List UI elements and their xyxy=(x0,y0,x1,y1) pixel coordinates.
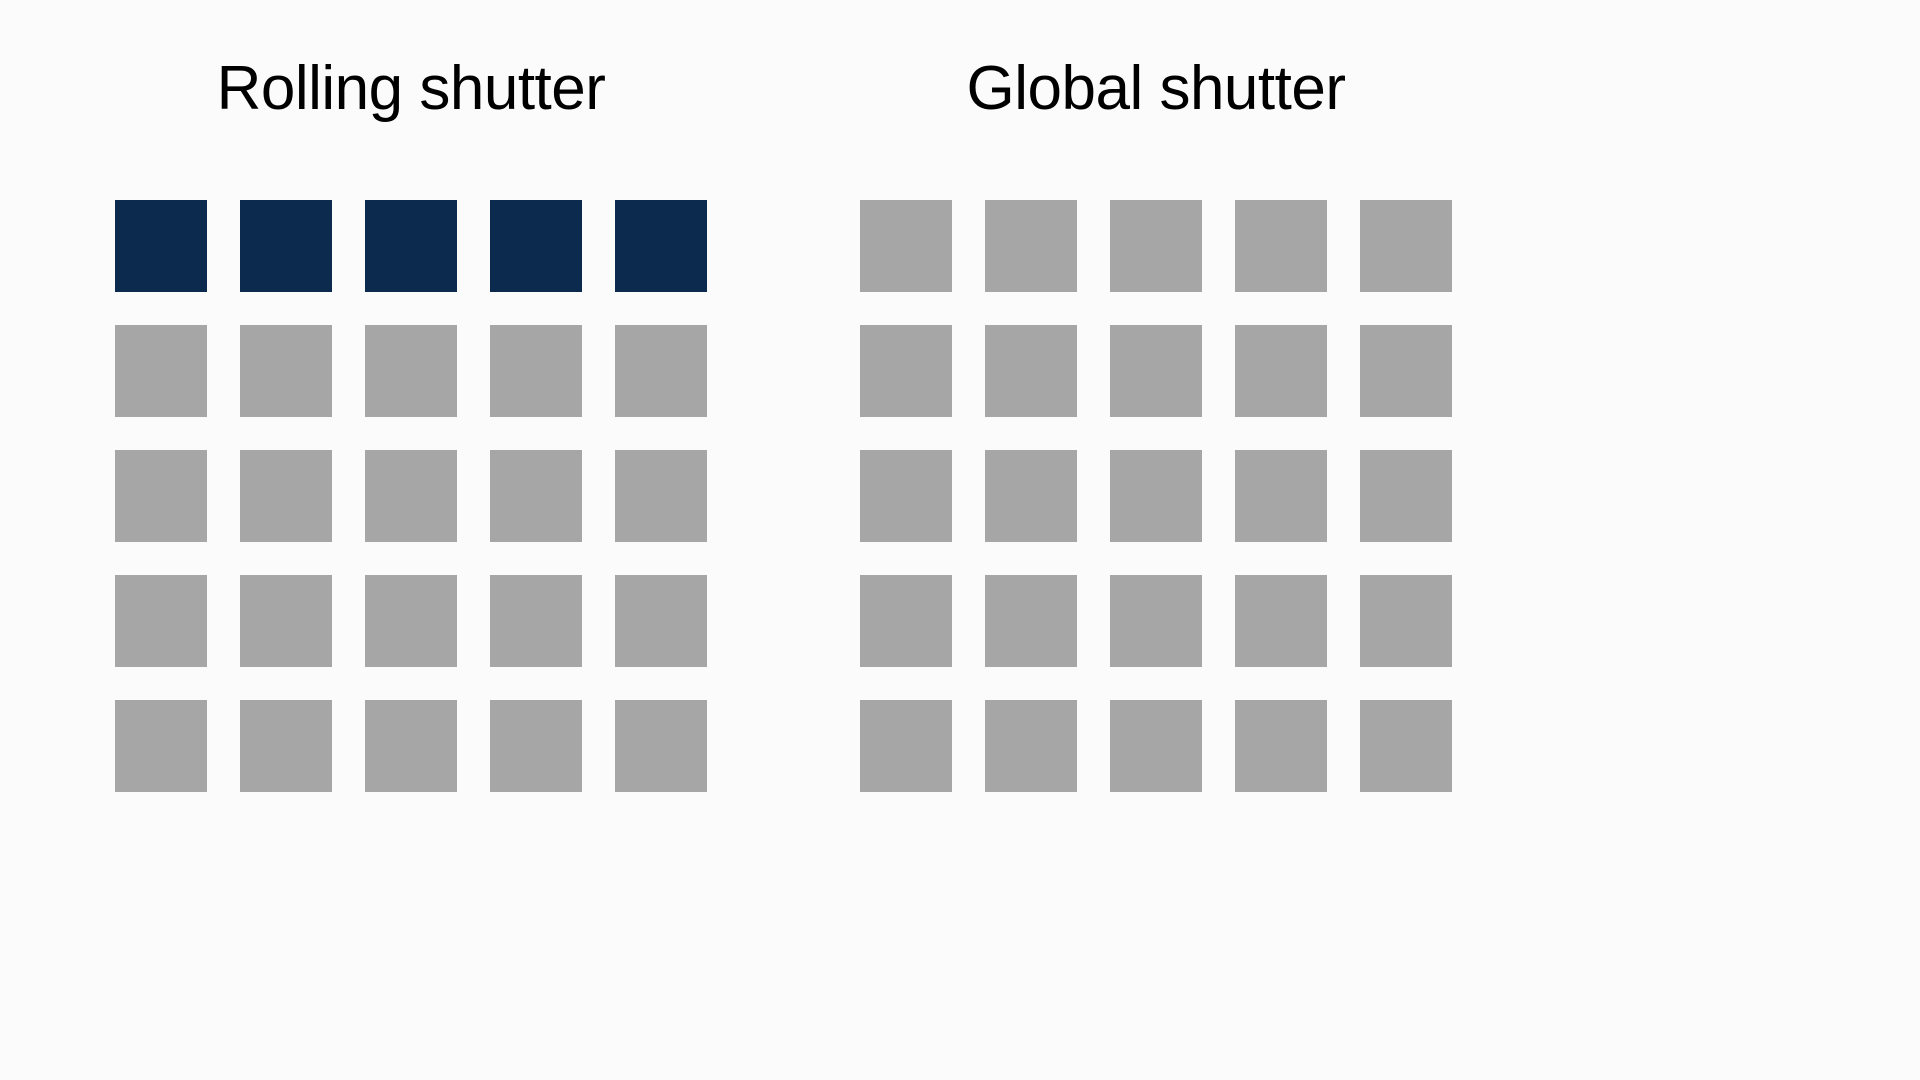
sensor-cell xyxy=(365,700,457,792)
sensor-cell xyxy=(365,450,457,542)
sensor-cell xyxy=(615,700,707,792)
sensor-grid-rolling-shutter xyxy=(115,200,707,792)
sensor-cell xyxy=(1360,700,1452,792)
sensor-cell xyxy=(240,325,332,417)
figure-canvas: Rolling shutter Global shutter xyxy=(0,0,1920,1080)
sensor-cell xyxy=(1235,700,1327,792)
sensor-cell xyxy=(1235,450,1327,542)
sensor-cell xyxy=(490,200,582,292)
sensor-cell xyxy=(860,325,952,417)
sensor-cell xyxy=(615,450,707,542)
sensor-cell xyxy=(860,200,952,292)
sensor-cell xyxy=(1110,575,1202,667)
panel-title-global-shutter: Global shutter xyxy=(860,58,1452,120)
sensor-cell xyxy=(860,450,952,542)
sensor-cell xyxy=(1360,450,1452,542)
sensor-cell xyxy=(240,450,332,542)
sensor-cell xyxy=(490,575,582,667)
sensor-cell xyxy=(615,200,707,292)
sensor-cell xyxy=(615,325,707,417)
sensor-cell xyxy=(860,575,952,667)
sensor-cell xyxy=(860,700,952,792)
sensor-cell xyxy=(1235,325,1327,417)
sensor-cell xyxy=(985,450,1077,542)
panel-title-rolling-shutter: Rolling shutter xyxy=(115,58,707,120)
sensor-cell xyxy=(240,700,332,792)
sensor-cell xyxy=(1360,325,1452,417)
sensor-cell xyxy=(365,200,457,292)
sensor-cell xyxy=(490,325,582,417)
sensor-cell xyxy=(1360,200,1452,292)
sensor-cell xyxy=(1235,575,1327,667)
sensor-cell xyxy=(240,575,332,667)
sensor-cell xyxy=(115,450,207,542)
sensor-cell xyxy=(985,200,1077,292)
sensor-cell xyxy=(1360,575,1452,667)
sensor-grid-global-shutter xyxy=(860,200,1452,792)
sensor-cell xyxy=(365,575,457,667)
sensor-cell xyxy=(115,325,207,417)
sensor-cell xyxy=(490,700,582,792)
sensor-cell xyxy=(1235,200,1327,292)
sensor-cell xyxy=(1110,700,1202,792)
sensor-cell xyxy=(490,450,582,542)
sensor-cell xyxy=(1110,200,1202,292)
sensor-cell xyxy=(115,200,207,292)
sensor-cell xyxy=(115,700,207,792)
sensor-cell xyxy=(240,200,332,292)
sensor-cell xyxy=(1110,325,1202,417)
sensor-cell xyxy=(985,575,1077,667)
sensor-cell xyxy=(115,575,207,667)
sensor-cell xyxy=(1110,450,1202,542)
sensor-cell xyxy=(615,575,707,667)
sensor-cell xyxy=(985,325,1077,417)
sensor-cell xyxy=(365,325,457,417)
sensor-cell xyxy=(985,700,1077,792)
